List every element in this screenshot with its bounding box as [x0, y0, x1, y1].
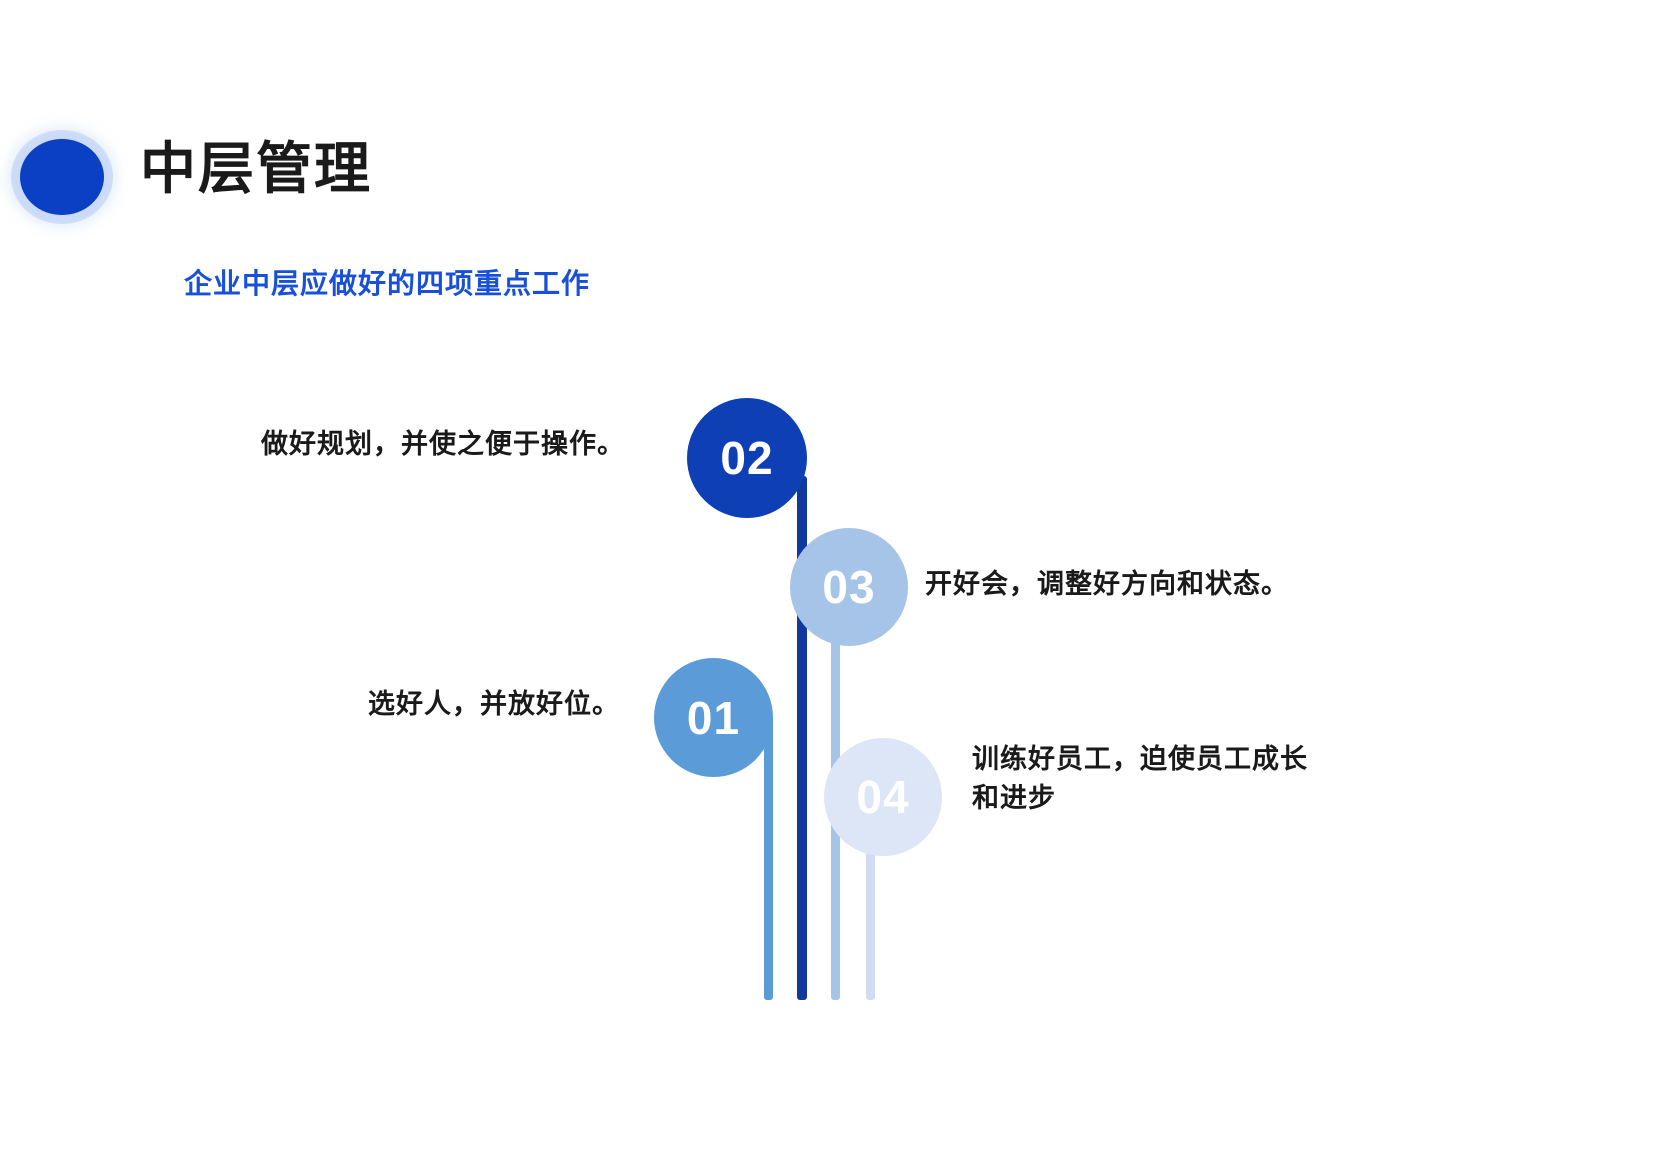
- timeline-node-01[interactable]: 01: [654, 658, 773, 777]
- timeline-diagram: 01 选好人，并放好位。 02 做好规划，并使之便于操作。 03 开好会，调整好…: [0, 0, 1653, 1168]
- node-number-03: 03: [822, 564, 875, 610]
- timeline-node-04[interactable]: 04: [824, 738, 942, 856]
- node-label-04: 训练好员工，迫使员工成长和进步: [972, 740, 1332, 818]
- node-label-02: 做好规划，并使之便于操作。: [180, 425, 625, 464]
- node-number-02: 02: [720, 435, 773, 481]
- node-label-01: 选好人，并放好位。: [230, 685, 620, 724]
- timeline-node-02[interactable]: 02: [687, 398, 807, 518]
- node-stem-04: [866, 830, 875, 1000]
- node-number-04: 04: [856, 774, 909, 820]
- node-number-01: 01: [687, 695, 740, 741]
- slide-canvas: 中层管理 企业中层应做好的四项重点工作 01 选好人，并放好位。 02 做好规划…: [0, 0, 1653, 1168]
- timeline-node-03[interactable]: 03: [790, 528, 908, 646]
- node-label-03: 开好会，调整好方向和状态。: [925, 565, 1355, 604]
- node-stem-01: [764, 715, 773, 1000]
